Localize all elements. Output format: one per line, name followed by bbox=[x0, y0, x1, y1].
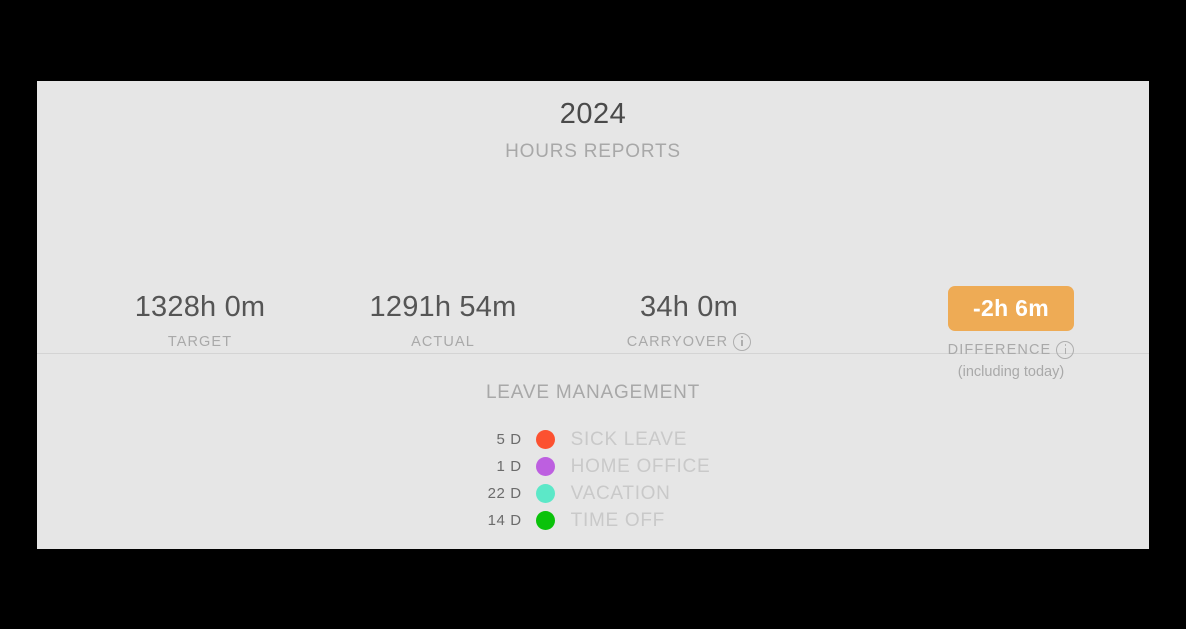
leave-days-value: 5 D bbox=[476, 431, 522, 449]
info-icon[interactable] bbox=[1056, 341, 1074, 359]
app-screen: 2024 HOURS REPORTS 1328h 0m TARGET 1291h… bbox=[0, 0, 1186, 629]
difference-sublabel: (including today) bbox=[917, 364, 1105, 381]
leave-color-dot-icon bbox=[536, 430, 555, 449]
difference-label: DIFFERENCE bbox=[917, 341, 1105, 359]
info-icon[interactable] bbox=[733, 333, 751, 351]
leave-days-value: 14 D bbox=[476, 512, 522, 530]
page-title: 2024 bbox=[37, 97, 1149, 131]
stat-actual: 1291h 54m ACTUAL bbox=[337, 290, 549, 351]
leave-days-value: 1 D bbox=[476, 458, 522, 476]
stat-carryover-label: CARRYOVER bbox=[583, 333, 795, 351]
leave-management-title: LEAVE MANAGEMENT bbox=[37, 382, 1149, 404]
stat-actual-label-text: ACTUAL bbox=[411, 333, 475, 351]
stat-target: 1328h 0m TARGET bbox=[99, 290, 301, 351]
leave-color-dot-icon bbox=[536, 457, 555, 476]
list-item: 1 D HOME OFFICE bbox=[476, 453, 711, 480]
stat-actual-label: ACTUAL bbox=[337, 333, 549, 351]
stat-actual-value: 1291h 54m bbox=[337, 290, 549, 324]
leave-type-label: TIME OFF bbox=[571, 510, 665, 532]
card-header: 2024 HOURS REPORTS bbox=[37, 81, 1149, 163]
stat-target-value: 1328h 0m bbox=[99, 290, 301, 324]
leave-type-label: VACATION bbox=[571, 483, 671, 505]
difference-badge[interactable]: -2h 6m bbox=[948, 286, 1074, 331]
leave-management-section: LEAVE MANAGEMENT 5 D SICK LEAVE 1 D HOME… bbox=[37, 354, 1149, 549]
difference-block: -2h 6m DIFFERENCE (including today) bbox=[917, 286, 1105, 381]
stat-target-label: TARGET bbox=[99, 333, 301, 351]
leave-days-value: 22 D bbox=[476, 485, 522, 503]
leave-color-dot-icon bbox=[536, 511, 555, 530]
list-item: 22 D VACATION bbox=[476, 480, 711, 507]
page-subtitle: HOURS REPORTS bbox=[37, 141, 1149, 163]
difference-label-text: DIFFERENCE bbox=[948, 341, 1052, 359]
list-item: 14 D TIME OFF bbox=[476, 507, 711, 534]
leave-type-label: HOME OFFICE bbox=[571, 456, 711, 478]
list-item: 5 D SICK LEAVE bbox=[476, 426, 711, 453]
stat-target-label-text: TARGET bbox=[168, 333, 232, 351]
leave-legend-list: 5 D SICK LEAVE 1 D HOME OFFICE 22 D VACA… bbox=[476, 426, 711, 534]
stats-row: 1328h 0m TARGET 1291h 54m ACTUAL 34h 0m … bbox=[37, 163, 1149, 353]
leave-color-dot-icon bbox=[536, 484, 555, 503]
stat-carryover-value: 34h 0m bbox=[583, 290, 795, 324]
leave-type-label: SICK LEAVE bbox=[571, 429, 687, 451]
stat-carryover-label-text: CARRYOVER bbox=[627, 333, 729, 351]
stat-carryover: 34h 0m CARRYOVER bbox=[583, 290, 795, 351]
hours-report-card: 2024 HOURS REPORTS 1328h 0m TARGET 1291h… bbox=[37, 81, 1149, 549]
